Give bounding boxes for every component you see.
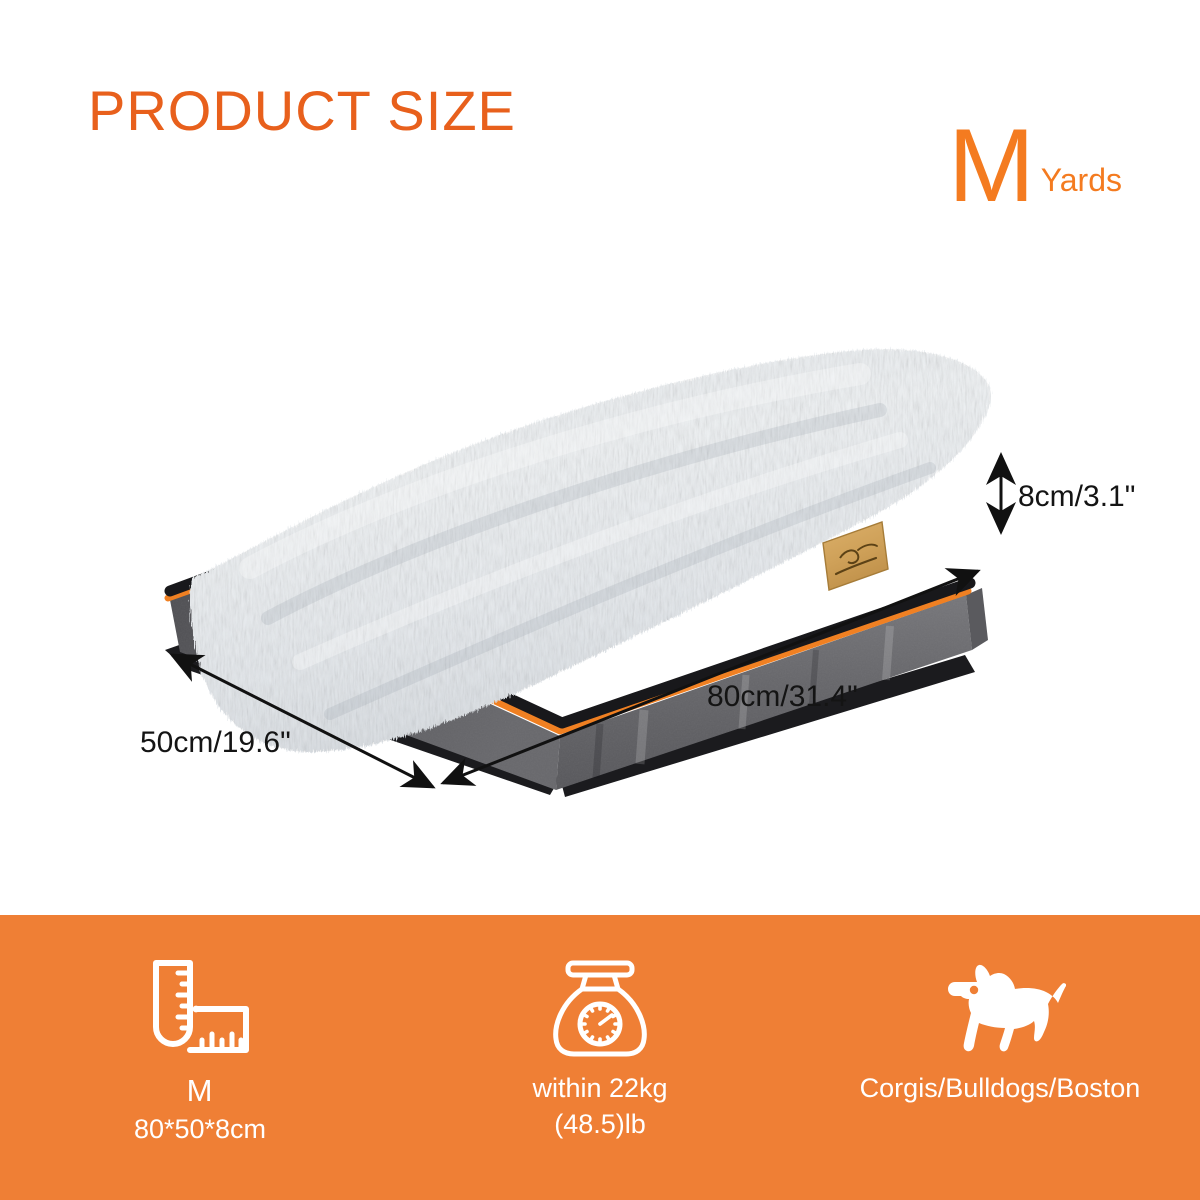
ruler-icon [144,953,256,1065]
feature-bar: M 80*50*8cm [0,915,1200,1200]
feature-breeds: Corgis/Bulldogs/Boston [800,915,1200,1200]
feature-size: M 80*50*8cm [0,915,400,1200]
feature-weight: within 22kg (48.5)lb [400,915,800,1200]
dog-icon [934,953,1066,1065]
feature-weight-text: within 22kg (48.5)lb [532,1071,667,1142]
feature-weight-line-0: within 22kg [532,1071,667,1107]
weight-scale-icon [544,953,656,1065]
product-illustration: 8cm/3.1" 80cm/31.4" 50cm/19.6" [0,300,1200,915]
size-badge-unit: Yards [1041,162,1122,209]
feature-size-line-1: 80*50*8cm [134,1112,266,1148]
page-title: PRODUCT SIZE [88,78,516,143]
size-badge: M Yards [948,124,1122,209]
dimension-label-height: 8cm/3.1" [1018,480,1135,514]
size-badge-letter: M [948,124,1033,209]
feature-breeds-text: Corgis/Bulldogs/Boston [860,1071,1141,1107]
dimension-label-width: 50cm/19.6" [140,726,291,760]
feature-breeds-line-0: Corgis/Bulldogs/Boston [860,1071,1141,1107]
feature-weight-line-1: (48.5)lb [532,1107,667,1143]
dimension-label-length: 80cm/31.4" [707,680,858,714]
dog-bed-illustration [0,300,1200,915]
feature-size-line-0: M [134,1071,266,1112]
feature-size-text: M 80*50*8cm [134,1071,266,1148]
